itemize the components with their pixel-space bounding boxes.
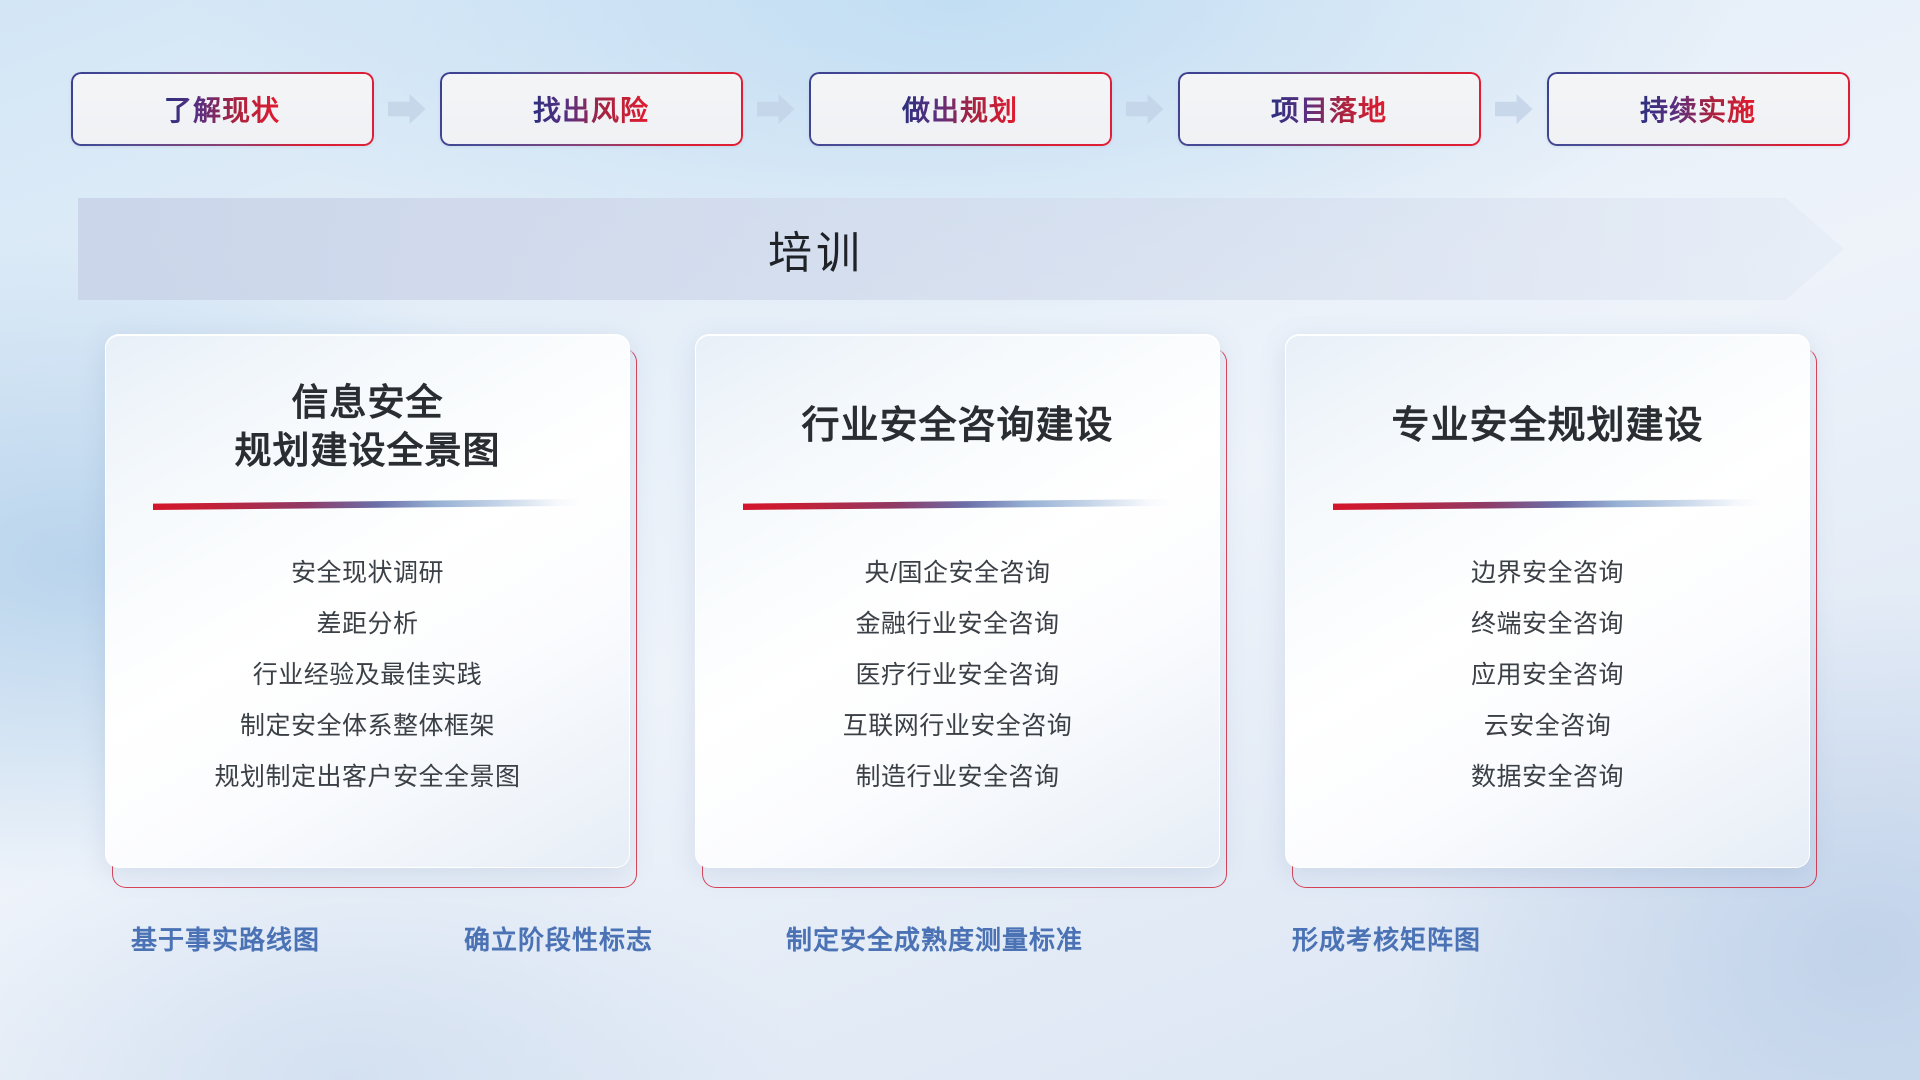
list-item[interactable]: 应用安全咨询 — [1471, 650, 1624, 701]
process-step-label: 找出风险 — [533, 89, 649, 129]
footer-label-1: 基于事实路线图 — [131, 920, 320, 957]
right-arrow-icon — [388, 94, 426, 124]
process-step-4[interactable]: 项目落地 — [1178, 72, 1481, 146]
training-banner-label: 培训 — [768, 217, 864, 281]
process-step-2[interactable]: 找出风险 — [440, 72, 743, 146]
right-arrow-icon — [1126, 94, 1164, 124]
card-divider — [1333, 499, 1763, 510]
process-step-5[interactable]: 持续实施 — [1547, 72, 1850, 146]
list-item[interactable]: 数据安全咨询 — [1471, 752, 1624, 803]
card-title-line: 行业安全咨询建设 — [801, 402, 1113, 451]
capability-card-1[interactable]: 信息安全规划建设全景图安全现状调研差距分析行业经验及最佳实践制定安全体系整体框架… — [105, 334, 635, 879]
card-title-line: 信息安全 — [235, 379, 501, 427]
list-item[interactable]: 边界安全咨询 — [1471, 548, 1624, 599]
list-item[interactable]: 互联网行业安全咨询 — [843, 701, 1073, 752]
card-body: 行业安全咨询建设央/国企安全咨询金融行业安全咨询医疗行业安全咨询互联网行业安全咨… — [695, 334, 1220, 868]
right-arrow-icon — [757, 94, 795, 124]
list-item[interactable]: 制定安全体系整体框架 — [240, 701, 495, 752]
process-step-label: 做出规划 — [902, 89, 1018, 129]
list-item[interactable]: 行业经验及最佳实践 — [253, 650, 483, 701]
card-divider — [743, 499, 1173, 510]
card-divider — [153, 499, 583, 510]
card-item-list: 央/国企安全咨询金融行业安全咨询医疗行业安全咨询互联网行业安全咨询制造行业安全咨… — [843, 548, 1073, 803]
card-title-line: 专业安全规划建设 — [1391, 402, 1703, 451]
list-item[interactable]: 规划制定出客户安全全景图 — [214, 752, 520, 803]
card-body: 专业安全规划建设边界安全咨询终端安全咨询应用安全咨询云安全咨询数据安全咨询 — [1285, 334, 1810, 868]
card-body: 信息安全规划建设全景图安全现状调研差距分析行业经验及最佳实践制定安全体系整体框架… — [105, 334, 630, 868]
card-title: 专业安全规划建设 — [1391, 377, 1703, 477]
process-step-label: 了解现状 — [164, 89, 280, 129]
list-item[interactable]: 制造行业安全咨询 — [855, 752, 1059, 803]
process-step-label: 项目落地 — [1271, 89, 1387, 129]
list-item[interactable]: 安全现状调研 — [291, 548, 444, 599]
footer-label-4: 形成考核矩阵图 — [1292, 920, 1481, 957]
process-step-label: 持续实施 — [1640, 89, 1756, 129]
card-item-list: 边界安全咨询终端安全咨询应用安全咨询云安全咨询数据安全咨询 — [1471, 548, 1624, 803]
process-step-1[interactable]: 了解现状 — [71, 72, 374, 146]
list-item[interactable]: 央/国企安全咨询 — [865, 548, 1051, 599]
list-item[interactable]: 医疗行业安全咨询 — [855, 650, 1059, 701]
list-item[interactable]: 终端安全咨询 — [1471, 599, 1624, 650]
capability-card-2[interactable]: 行业安全咨询建设央/国企安全咨询金融行业安全咨询医疗行业安全咨询互联网行业安全咨… — [695, 334, 1225, 879]
card-item-list: 安全现状调研差距分析行业经验及最佳实践制定安全体系整体框架规划制定出客户安全全景… — [214, 548, 520, 803]
process-step-3[interactable]: 做出规划 — [809, 72, 1112, 146]
capability-card-3[interactable]: 专业安全规划建设边界安全咨询终端安全咨询应用安全咨询云安全咨询数据安全咨询 — [1285, 334, 1815, 879]
training-banner: 培训 — [78, 198, 1844, 300]
footer-label-3: 制定安全成熟度测量标准 — [786, 920, 1083, 957]
list-item[interactable]: 云安全咨询 — [1484, 701, 1612, 752]
footer-label-row: 基于事实路线图确立阶段性标志制定安全成熟度测量标准形成考核矩阵图 — [0, 920, 1920, 980]
slide-canvas: 了解现状找出风险做出规划项目落地持续实施 培训 信息安全规划建设全景图安全现状调… — [0, 0, 1920, 1080]
list-item[interactable]: 差距分析 — [316, 599, 418, 650]
card-title: 行业安全咨询建设 — [801, 377, 1113, 477]
process-step-row: 了解现状找出风险做出规划项目落地持续实施 — [0, 72, 1920, 146]
capability-card-row: 信息安全规划建设全景图安全现状调研差距分析行业经验及最佳实践制定安全体系整体框架… — [0, 334, 1920, 894]
card-title-line: 规划建设全景图 — [235, 427, 501, 475]
list-item[interactable]: 金融行业安全咨询 — [855, 599, 1059, 650]
card-title: 信息安全规划建设全景图 — [235, 377, 501, 477]
right-arrow-icon — [1495, 94, 1533, 124]
footer-label-2: 确立阶段性标志 — [464, 920, 653, 957]
